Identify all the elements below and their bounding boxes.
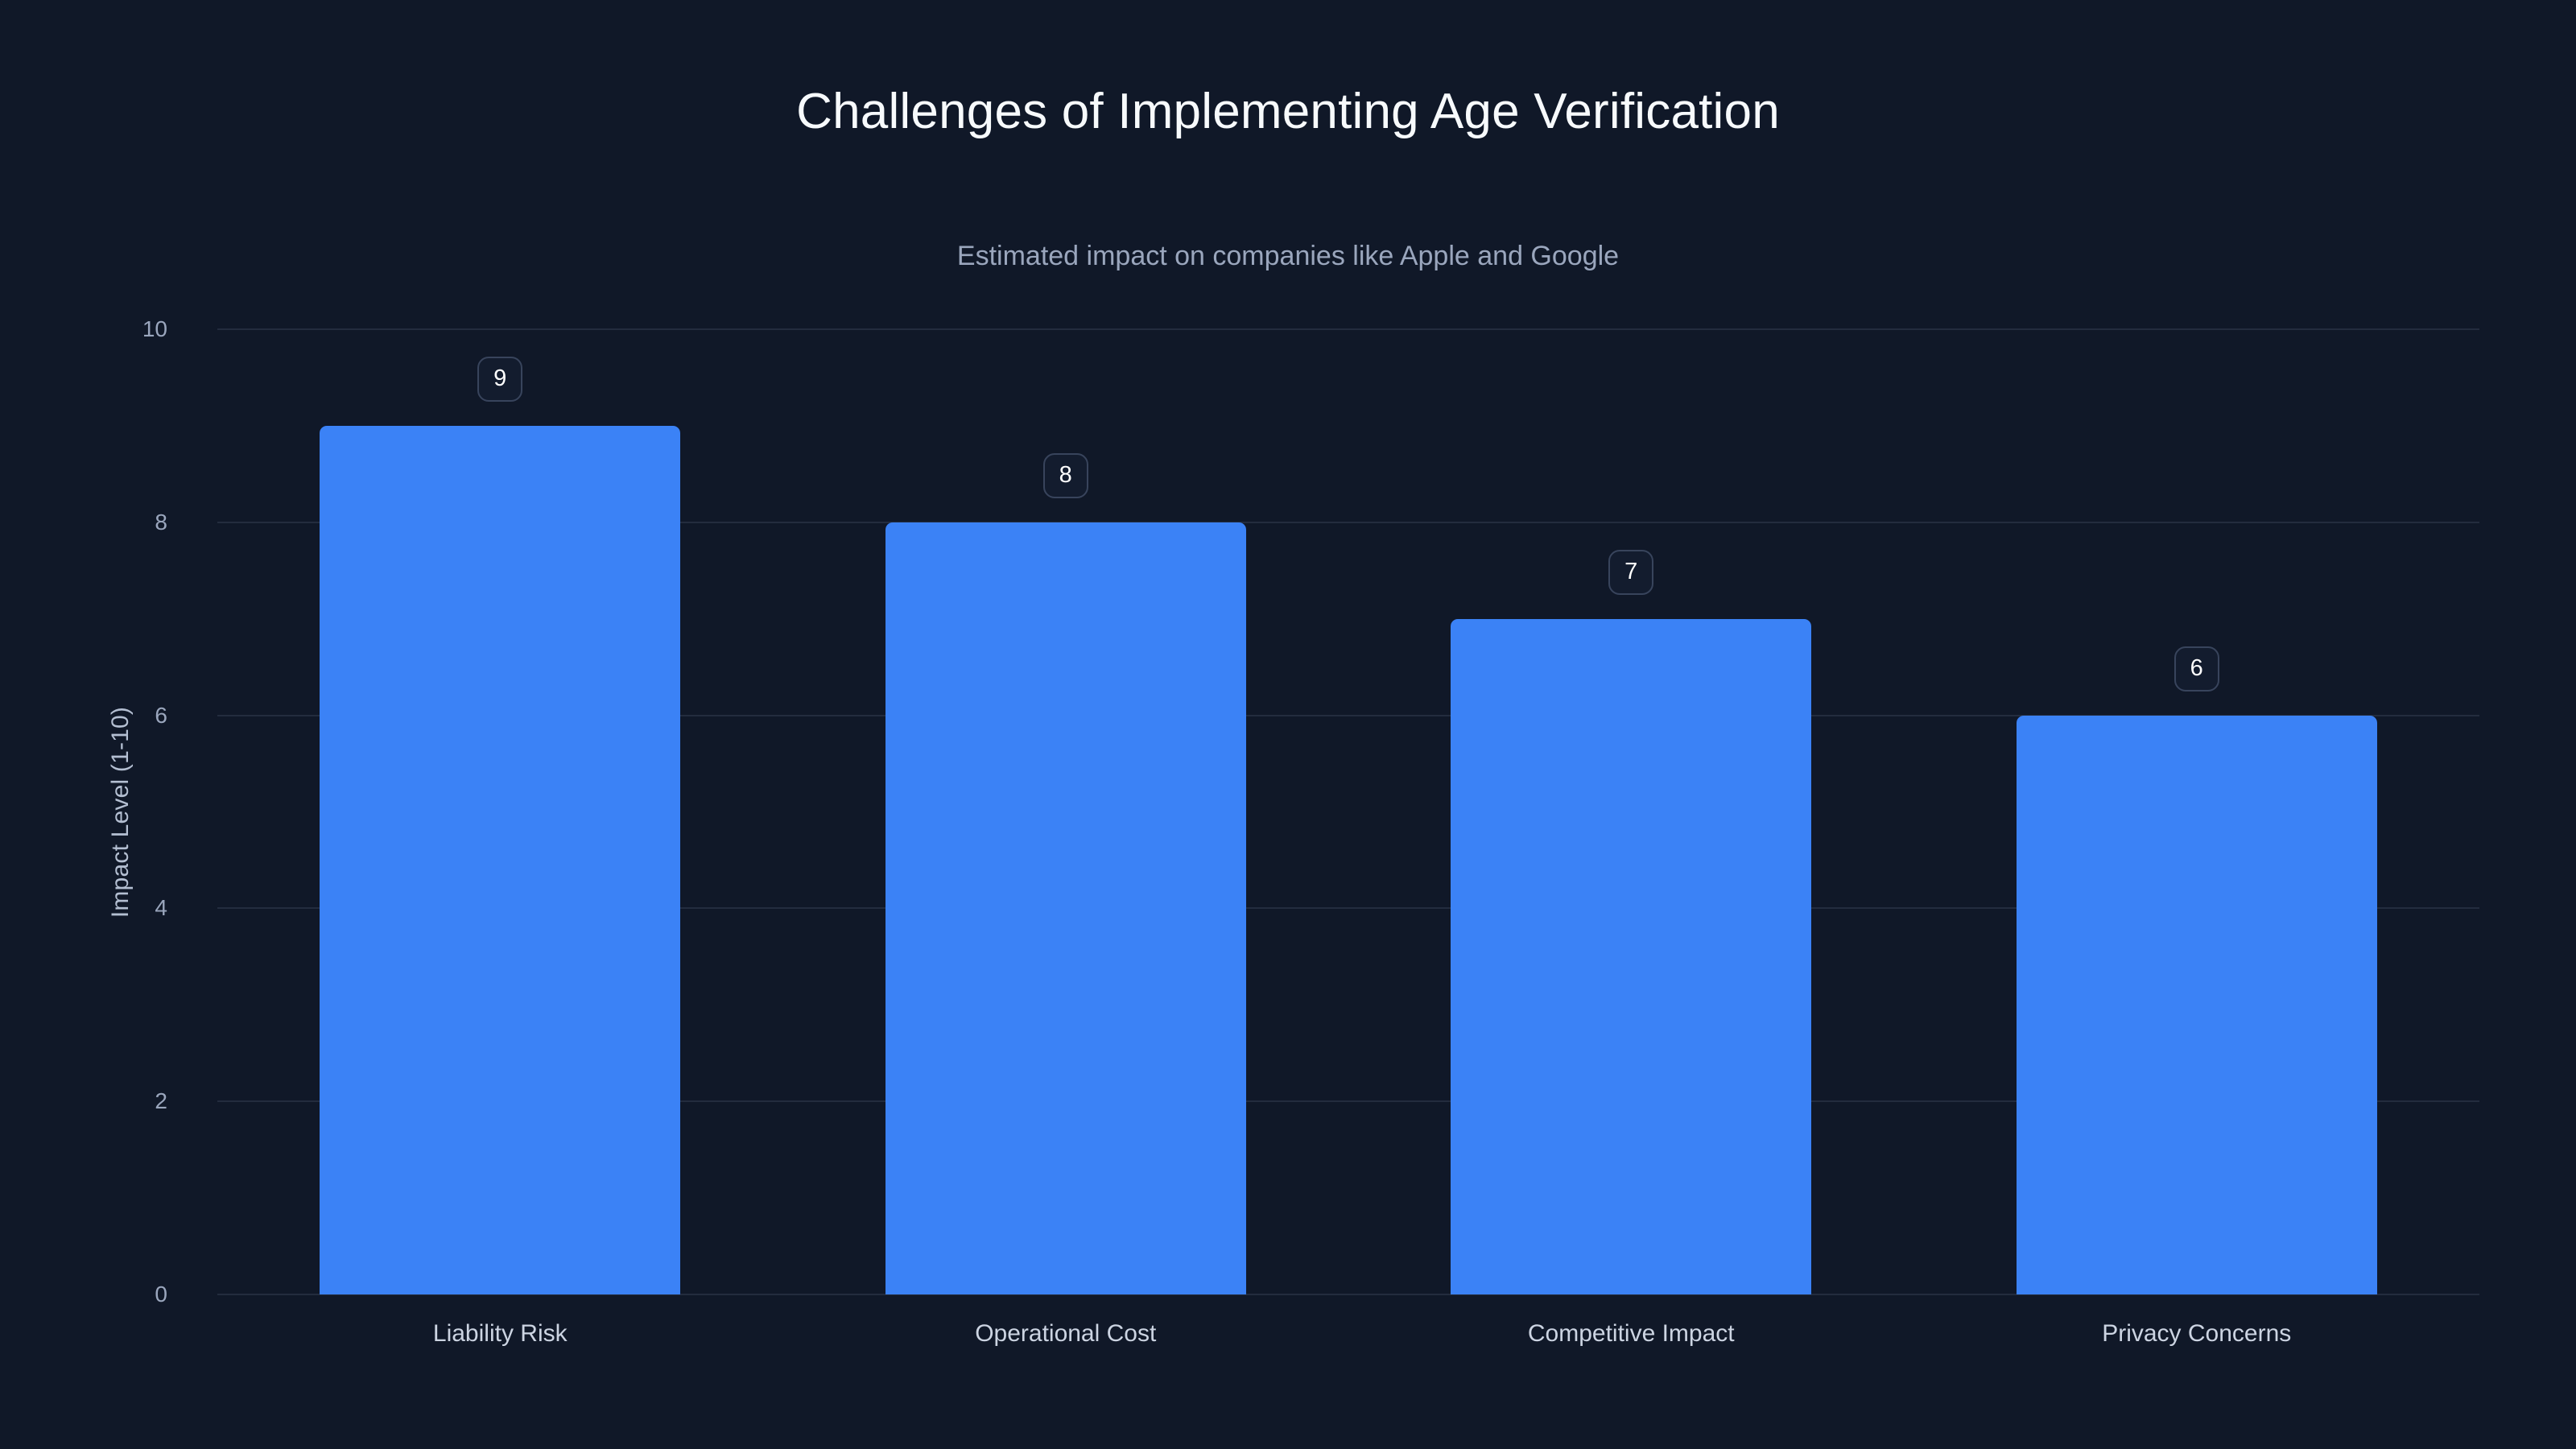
- chart-subtitle: Estimated impact on companies like Apple…: [0, 242, 2576, 271]
- bar[interactable]: [320, 426, 680, 1294]
- bar-value-badge: 8: [1043, 453, 1088, 498]
- plot-area: 9876: [217, 329, 2479, 1294]
- bar[interactable]: [2017, 716, 2377, 1294]
- bars-layer: 9876: [217, 329, 2479, 1294]
- x-axis-category-label: Privacy Concerns: [2102, 1320, 2291, 1348]
- y-axis-tick-label: 8: [155, 510, 167, 535]
- bar-value-badge: 6: [2174, 646, 2219, 691]
- bar[interactable]: [885, 522, 1246, 1294]
- y-axis-tick-label: 2: [155, 1088, 167, 1114]
- y-axis-tick-label: 6: [155, 703, 167, 729]
- chart-title: Challenges of Implementing Age Verificat…: [0, 85, 2576, 139]
- x-axis-category-labels: Liability RiskOperational CostCompetitiv…: [217, 1320, 2479, 1368]
- bar[interactable]: [1451, 619, 1811, 1294]
- x-axis-category-label: Competitive Impact: [1528, 1320, 1735, 1348]
- y-axis-tick-label: 10: [142, 316, 167, 342]
- bar-chart-figure: Challenges of Implementing Age Verificat…: [0, 0, 2576, 1449]
- x-axis-category-label: Liability Risk: [433, 1320, 568, 1348]
- x-axis-category-label: Operational Cost: [975, 1320, 1156, 1348]
- y-axis-tick-label: 4: [155, 895, 167, 921]
- bar-value-badge: 7: [1608, 550, 1653, 595]
- bar-value-badge: 9: [477, 357, 522, 402]
- y-axis-tick-labels: 0246810: [0, 329, 201, 1294]
- y-axis-tick-label: 0: [155, 1282, 167, 1307]
